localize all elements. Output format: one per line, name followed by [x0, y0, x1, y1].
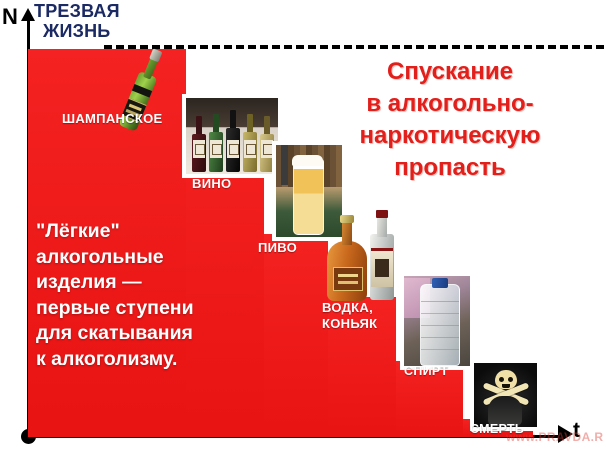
beer-tap: [281, 145, 288, 185]
vodka-neck: [377, 215, 387, 237]
wine-bottles-shelf-image: [182, 94, 282, 178]
light-alcohol-paragraph: "Лёгкие" алкогольные изделия — первые ст…: [36, 219, 266, 372]
skull-and-crossbones-image: [470, 359, 541, 431]
ethanol-plastic-bottle-image: [400, 272, 474, 370]
step-label-wine: ВИНО: [192, 176, 231, 191]
wine-bottle: [243, 114, 257, 172]
cognac-bottle-image: [326, 215, 368, 301]
cognac-label: [333, 267, 363, 291]
alcohol-descent-poster: N t ТРЕЗВАЯ ЖИЗНЬ: [0, 0, 604, 453]
wine-bottle: [226, 110, 240, 172]
sober-life-title: ТРЕЗВАЯ ЖИЗНЬ: [34, 1, 174, 41]
step-label-champagne: ШАМПАНСКОЕ: [62, 111, 163, 126]
vodka-cap: [376, 210, 388, 218]
step-label-vodka: ВОДКА, КОНЬЯК: [322, 300, 377, 332]
step-label-spirt: СПИРТ: [404, 364, 448, 378]
fall-headline: Спускание в алкогольно- наркотическую пр…: [300, 56, 600, 184]
cognac-cap: [340, 215, 354, 223]
vodka-bottle-image: [368, 210, 396, 300]
wine-bottle: [209, 114, 223, 172]
vertical-axis-arrow-icon: [21, 8, 35, 21]
sober-life-title-line1: ТРЕЗВАЯ: [34, 1, 120, 21]
spirt-plastic-bottle: [420, 284, 460, 366]
spirt-bottle-cap: [432, 278, 448, 288]
skull-icon: [495, 370, 517, 389]
wine-bottle: [192, 116, 206, 172]
sober-life-title-line2: ЖИЗНЬ: [34, 21, 174, 41]
watermark: www.PRAVDA.RU: [506, 430, 604, 444]
vodka-label: [371, 248, 393, 287]
vertical-axis-label: N: [2, 4, 17, 30]
step-block-beer: [264, 234, 328, 437]
